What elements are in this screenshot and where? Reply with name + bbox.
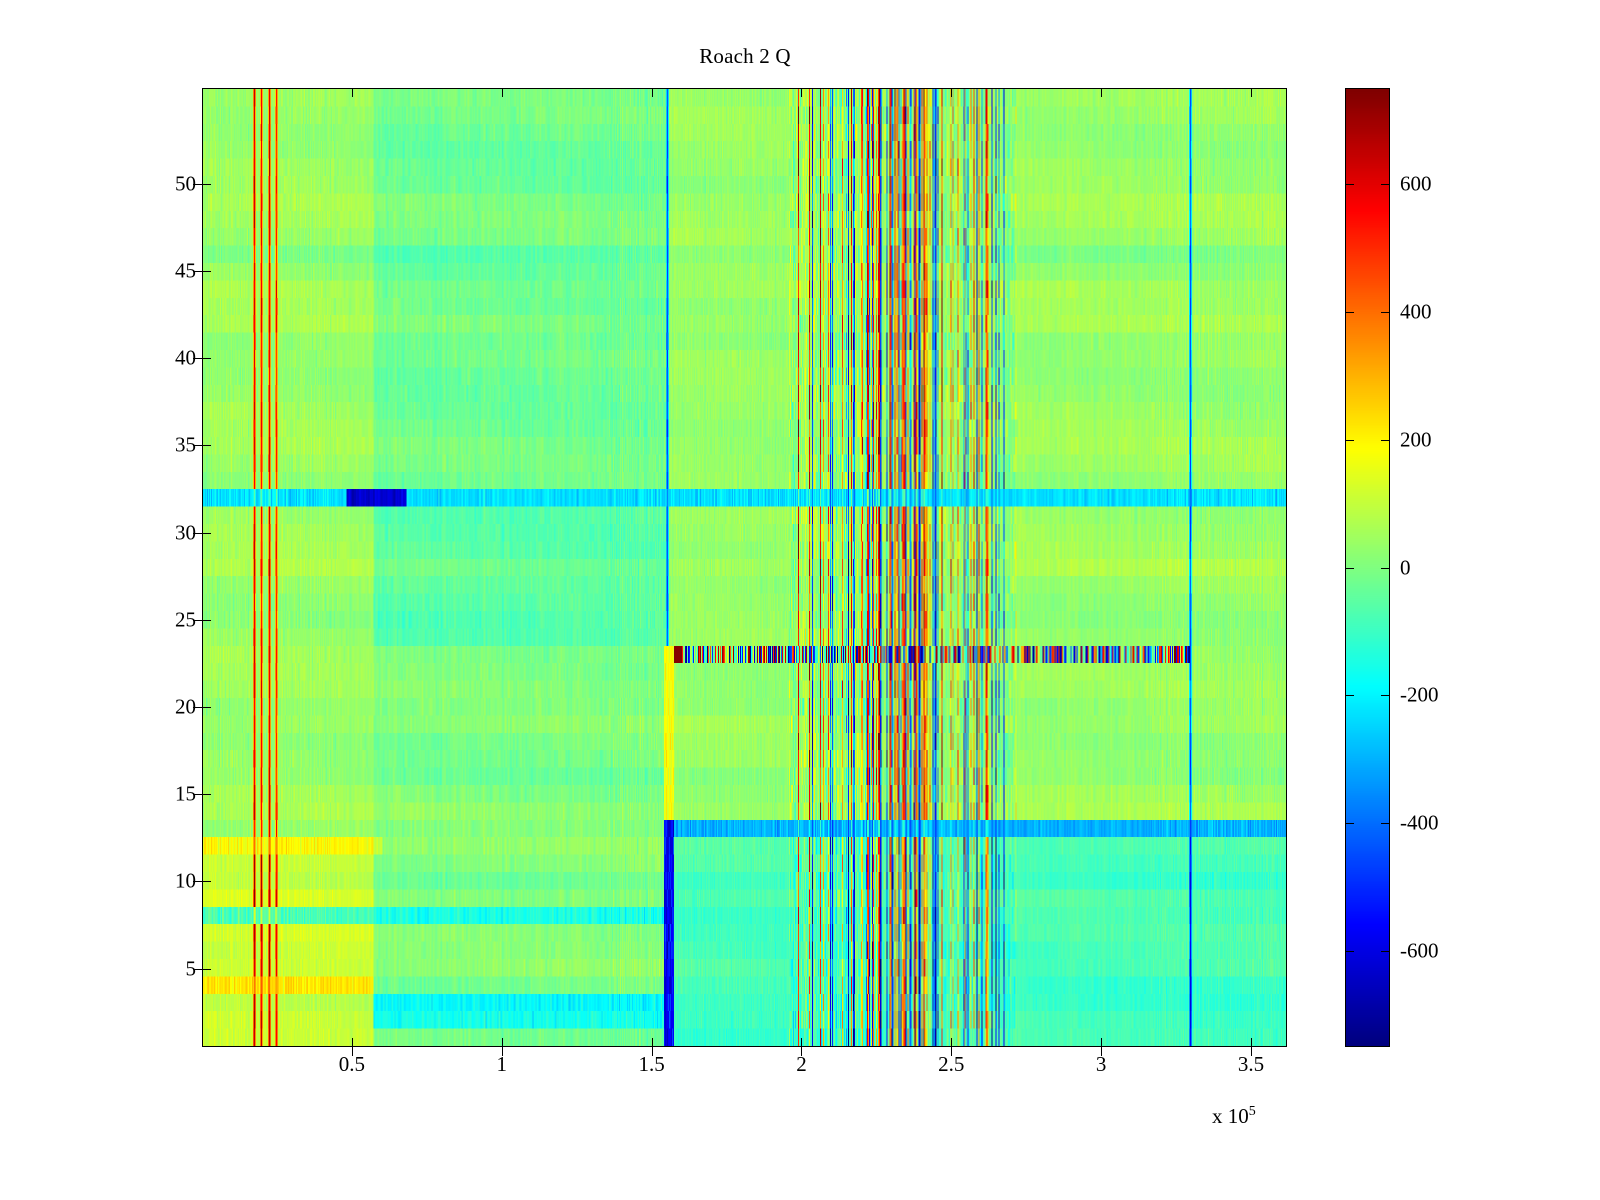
y-tick-label-10: 10 — [175, 869, 196, 894]
colorbar-tick-label-400: 400 — [1400, 299, 1432, 324]
x-tick-top-3 — [1101, 88, 1102, 97]
x-tick-inner-2.5 — [951, 1038, 952, 1047]
x-tick-label-0.5: 0.5 — [339, 1052, 365, 1077]
y-tick-inner-10 — [202, 881, 211, 882]
y-tick-label-45: 45 — [175, 259, 196, 284]
colorbar-tick-label-200: 200 — [1400, 427, 1432, 452]
x-tick-label-3: 3 — [1096, 1052, 1107, 1077]
colorbar-tick-right-200 — [1381, 440, 1390, 441]
colorbar-tick-right--200 — [1381, 695, 1390, 696]
colorbar-tick-label--200: -200 — [1400, 683, 1439, 708]
y-tick-inner-15 — [202, 794, 211, 795]
colorbar-tick-right--600 — [1381, 951, 1390, 952]
y-tick-inner-30 — [202, 533, 211, 534]
colorbar-tick-right-0 — [1381, 568, 1390, 569]
y-tick-label-20: 20 — [175, 694, 196, 719]
x-tick-label-2.5: 2.5 — [938, 1052, 964, 1077]
colorbar-tick-label-0: 0 — [1400, 555, 1411, 580]
colorbar-tick-left-400 — [1345, 312, 1354, 313]
x-tick-top-0.5 — [352, 88, 353, 97]
y-tick-inner-5 — [202, 969, 211, 970]
colorbar-tick-left-600 — [1345, 184, 1354, 185]
x-tick-inner-1.5 — [652, 1038, 653, 1047]
x-tick-label-3.5: 3.5 — [1238, 1052, 1264, 1077]
heatmap-axes — [202, 88, 1287, 1047]
y-tick-inner-25 — [202, 620, 211, 621]
y-tick-label-40: 40 — [175, 346, 196, 371]
page-title: Roach 2 Q — [0, 44, 1490, 69]
heatmap-image — [203, 89, 1286, 1046]
x-tick-inner-3.5 — [1251, 1038, 1252, 1047]
x-tick-top-2 — [801, 88, 802, 97]
colorbar-tick-left--200 — [1345, 695, 1354, 696]
x-tick-top-3.5 — [1251, 88, 1252, 97]
colorbar-tick-right--400 — [1381, 823, 1390, 824]
x-tick-top-1.5 — [652, 88, 653, 97]
x-tick-inner-3 — [1101, 1038, 1102, 1047]
colorbar-tick-label--400: -400 — [1400, 811, 1439, 836]
y-tick-inner-45 — [202, 271, 211, 272]
y-tick-label-30: 30 — [175, 520, 196, 545]
y-tick-inner-20 — [202, 707, 211, 708]
colorbar-tick-left--600 — [1345, 951, 1354, 952]
colorbar-tick-label--600: -600 — [1400, 939, 1439, 964]
y-tick-inner-50 — [202, 184, 211, 185]
colorbar-tick-right-600 — [1381, 184, 1390, 185]
x-tick-inner-0.5 — [352, 1038, 353, 1047]
colorbar-tick-left-0 — [1345, 568, 1354, 569]
x-tick-inner-2 — [801, 1038, 802, 1047]
x-tick-top-1 — [502, 88, 503, 97]
colorbar-tick-right-400 — [1381, 312, 1390, 313]
heatmap-canvas — [203, 89, 1286, 1046]
x-tick-inner-1 — [502, 1038, 503, 1047]
y-tick-label-25: 25 — [175, 607, 196, 632]
y-tick-label-35: 35 — [175, 433, 196, 458]
matlab-figure: Roach 2 Q 5101520253035404550 0.511.522.… — [0, 0, 1600, 1200]
x-axis-exponent-label: x 105 — [1212, 1104, 1256, 1129]
colorbar-tick-left-200 — [1345, 440, 1354, 441]
y-tick-inner-35 — [202, 445, 211, 446]
y-tick-label-50: 50 — [175, 171, 196, 196]
x-tick-label-1: 1 — [496, 1052, 507, 1077]
y-tick-inner-40 — [202, 358, 211, 359]
x-tick-label-1.5: 1.5 — [638, 1052, 664, 1077]
y-tick-label-15: 15 — [175, 782, 196, 807]
y-tick-label-5: 5 — [186, 956, 197, 981]
colorbar-tick-label-600: 600 — [1400, 171, 1432, 196]
x-tick-label-2: 2 — [796, 1052, 807, 1077]
x-tick-top-2.5 — [951, 88, 952, 97]
colorbar-tick-left--400 — [1345, 823, 1354, 824]
